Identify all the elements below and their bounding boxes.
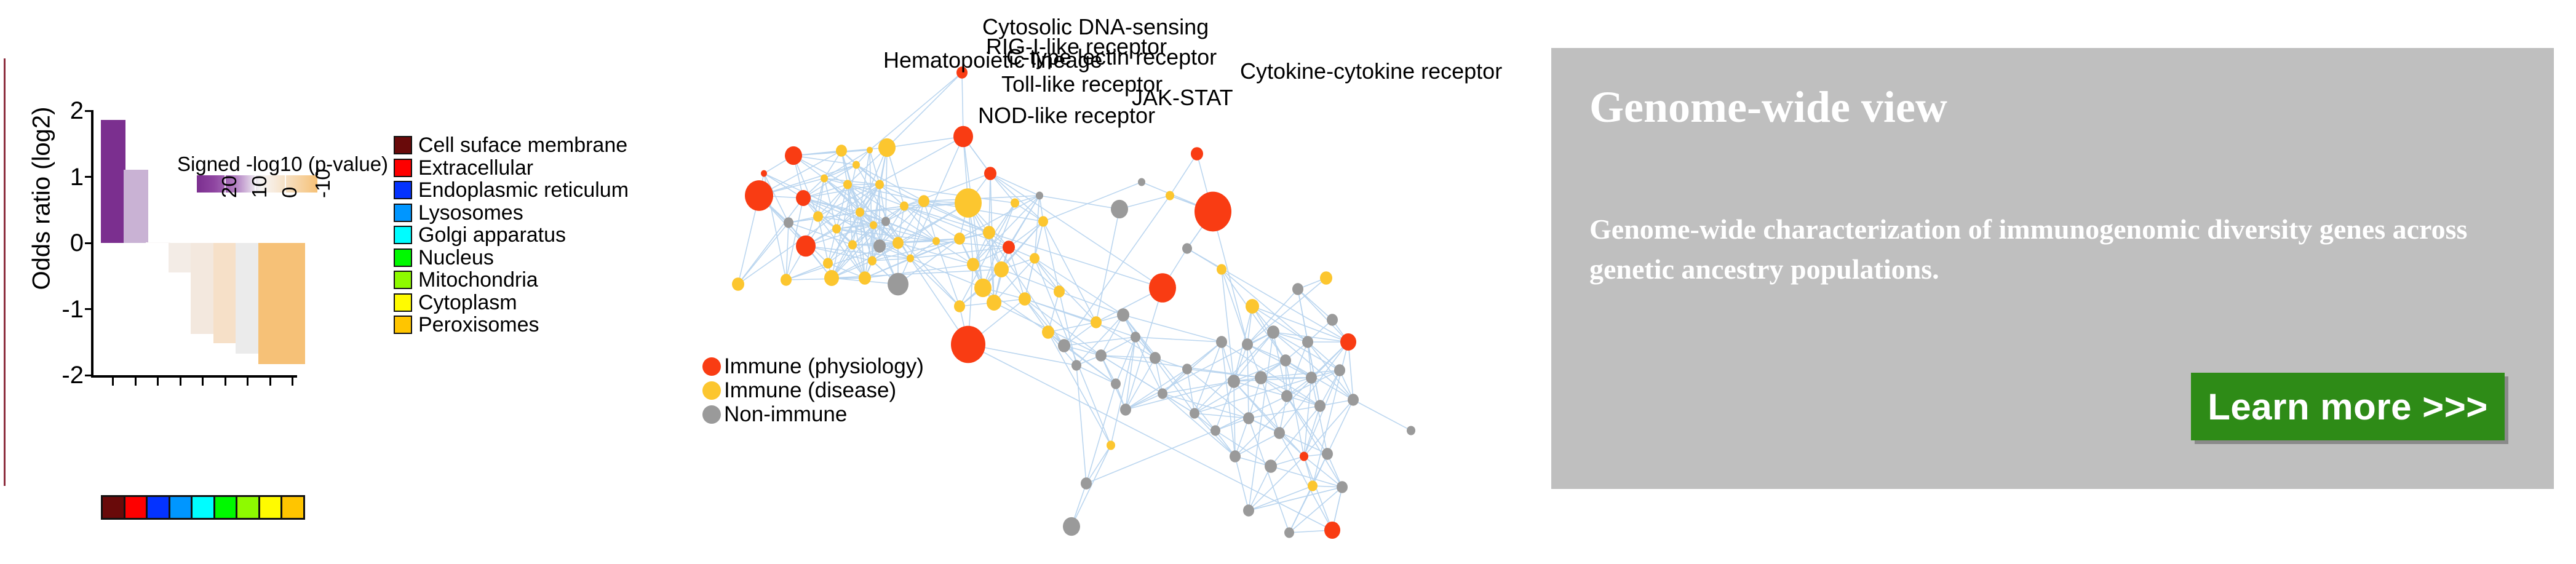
bar [236,243,260,354]
colorbar-tick-label: 0 [278,187,301,198]
network-node[interactable] [1340,333,1356,351]
network-node[interactable] [1314,400,1326,411]
bar [191,243,215,334]
network-legend: Immune (physiology)Immune (disease)Non-i… [702,354,924,426]
network-node[interactable] [907,255,914,263]
network-node[interactable] [823,258,833,268]
localization-color-swatch [394,181,412,199]
network-node[interactable] [932,237,940,245]
network-node[interactable] [984,167,996,180]
colorbar-title: Signed -log10 (p-value) [177,153,388,176]
network-node[interactable] [761,170,767,177]
network-node[interactable] [848,240,857,249]
network-node[interactable] [900,201,908,210]
network-label-cytokine-cytokine-receptor: Cytokine-cytokine receptor [1240,60,1502,82]
network-legend-label: Immune (physiology) [724,355,924,377]
localization-color-swatch [394,226,412,244]
network-node[interactable] [1255,371,1267,384]
localization-legend-label: Endoplasmic reticulum [418,180,629,201]
colorbar-tick-label: -10 [311,169,335,198]
network-node[interactable] [1217,264,1226,274]
y-tick-label: 1 [70,165,84,189]
bar [213,243,238,343]
localization-legend-item: Cytoplasm [394,292,629,314]
network-label-hematopoietic-lineage: Hematopoietic lineage [883,49,1102,71]
network-node[interactable] [1191,147,1203,161]
network-node[interactable] [1322,448,1333,459]
category-swatch [213,495,238,520]
localization-color-swatch [394,271,412,289]
network-node[interactable] [1182,363,1192,374]
learn-more-label: Learn more >>> [2208,386,2488,428]
category-swatch [191,495,215,520]
localization-legend-item: Extracellular [394,157,629,180]
network-node[interactable] [1131,332,1140,342]
network-node[interactable] [1348,394,1359,405]
promo-card: Genome-wide view Genome-wide characteriz… [1551,48,2554,489]
bar [280,243,305,364]
network-node[interactable] [1190,408,1199,418]
colorbar-tick-label: 10 [248,175,271,198]
y-tick [85,375,93,376]
y-tick-label: -2 [62,363,84,387]
localization-legend-item: Mitochondria [394,269,629,292]
localization-color-swatch [394,204,412,222]
localization-legend-label: Cell suface membrane [418,135,627,156]
network-node[interactable] [1407,426,1415,435]
network-node[interactable] [832,224,841,233]
network-node[interactable] [1210,425,1220,435]
network-node[interactable] [1280,354,1291,366]
y-axis-label: Odds ratio (log2) [28,70,56,328]
network-node[interactable] [856,207,864,216]
localization-legend-item: Nucleus [394,247,629,269]
network-node[interactable] [1228,375,1240,388]
network-label-nod-like-receptor: NOD-like receptor [978,105,1155,127]
localization-legend-label: Peroxisomes [418,314,539,335]
localization-legend-label: Cytoplasm [418,292,517,313]
bar [124,170,148,243]
network-node[interactable] [1243,412,1254,424]
y-tick-label: -1 [62,297,84,322]
network-node[interactable] [1265,459,1277,473]
x-axis-line [91,375,297,378]
network-node[interactable] [1149,273,1176,303]
network-node[interactable] [1158,388,1167,399]
network-node[interactable] [824,270,839,286]
network-node[interactable] [1166,191,1174,200]
network-node[interactable] [745,180,773,211]
network-node[interactable] [1267,325,1279,339]
network-node[interactable] [987,295,1001,311]
network-node[interactable] [1292,283,1303,295]
y-tick [85,176,93,178]
network-node[interactable] [821,175,828,183]
network-node[interactable] [1281,390,1292,402]
y-tick [85,308,93,310]
network-node[interactable] [954,232,965,244]
localization-color-swatch [394,159,412,177]
network-node[interactable] [843,180,852,189]
network-legend-dot [702,405,721,424]
network-node[interactable] [1138,178,1145,186]
network-node[interactable] [1327,314,1338,325]
x-tick [247,378,248,386]
network-node[interactable] [1054,285,1065,297]
network-node[interactable] [1019,292,1031,306]
network-node[interactable] [1071,360,1081,370]
network-panel: Cytosolic DNA-sensing RIG-I-like recepto… [695,0,1551,564]
network-node[interactable] [796,236,816,257]
localization-legend-item: Lysosomes [394,202,629,224]
network-node[interactable] [785,146,802,165]
x-tick [269,378,271,386]
network-node[interactable] [875,180,884,189]
x-tick [112,378,114,386]
category-swatch [280,495,305,520]
localization-color-swatch [394,293,412,312]
network-legend-label: Non-immune [724,403,847,425]
y-tick [85,242,93,244]
network-node[interactable] [881,216,890,226]
learn-more-button[interactable]: Learn more >>> [2191,373,2505,440]
network-node[interactable] [1030,253,1040,263]
network-legend-item: Immune (physiology) [702,354,924,378]
x-tick [135,378,137,386]
network-node[interactable] [784,217,793,228]
network-node[interactable] [796,190,811,206]
localization-legend-item: Golgi apparatus [394,224,629,247]
network-node[interactable] [1063,517,1080,536]
localization-color-swatch [394,136,412,154]
promo-body: Genome-wide characterization of immunoge… [1589,209,2512,290]
network-node[interactable] [868,256,877,265]
figure-root: Odds ratio (log2) 210-1-2 Signed -log10 … [0,0,2576,564]
network-node[interactable] [1042,325,1054,339]
x-tick [157,378,159,386]
network-edges [738,73,1411,533]
category-swatch [169,495,193,520]
localization-legend: Cell suface membraneExtracellularEndopla… [394,134,629,336]
network-node[interactable] [983,226,995,239]
network-node[interactable] [1111,378,1121,389]
y-tick-label: 0 [70,231,84,255]
network-node[interactable] [918,195,929,207]
network-node[interactable] [870,221,877,229]
bar [146,242,170,244]
y-tick [85,110,93,112]
network-node[interactable] [1242,338,1253,350]
network-node[interactable] [1011,198,1019,207]
localization-legend-item: Peroxisomes [394,314,629,336]
network-node[interactable] [888,273,908,296]
network-legend-dot [702,357,721,376]
network-node[interactable] [1091,316,1102,328]
localization-legend-label: Mitochondria [418,269,538,290]
network-node[interactable] [1230,450,1241,462]
network-node[interactable] [1120,403,1131,415]
network-node[interactable] [1308,480,1318,491]
network-node[interactable] [1107,440,1115,450]
network-node[interactable] [1095,349,1107,361]
bar [258,243,283,364]
x-tick [225,378,226,386]
bar-chart-plot-area: 210-1-2 [91,111,297,375]
bar-chart-panel: Odds ratio (log2) 210-1-2 Signed -log10 … [0,0,695,564]
network-legend-item: Immune (disease) [702,378,924,402]
network-node[interactable] [878,138,896,157]
x-tick [202,378,204,386]
network-node[interactable] [853,161,860,169]
network-node[interactable] [1246,299,1259,314]
network-node[interactable] [1300,451,1308,461]
localization-legend-label: Golgi apparatus [418,224,566,245]
network-node[interactable] [813,211,823,221]
network-node[interactable] [955,188,982,218]
localization-legend-item: Cell suface membrane [394,134,629,157]
network-node[interactable] [1195,192,1231,232]
localization-legend-label: Lysosomes [418,202,523,223]
network-node[interactable] [974,279,992,297]
network-node[interactable] [873,239,886,253]
network-node[interactable] [1058,339,1070,352]
category-swatch [258,495,283,520]
network-node[interactable] [1334,364,1345,376]
network-node[interactable] [859,271,871,285]
category-swatch [101,495,125,520]
localization-legend-item: Endoplasmic reticulum [394,179,629,202]
localization-legend-label: Nucleus [418,247,494,268]
promo-title: Genome-wide view [1589,85,1947,129]
category-swatch [146,495,170,520]
network-node[interactable] [1150,352,1161,363]
network-node[interactable] [1081,477,1092,489]
bar [101,120,125,243]
network-node[interactable] [1306,371,1317,383]
localization-legend-label: Extracellular [418,157,533,178]
network-node[interactable] [1216,336,1227,348]
network-node[interactable] [1182,243,1192,253]
x-tick [292,378,293,386]
network-node[interactable] [951,326,985,363]
network-legend-item: Non-immune [702,402,924,426]
network-node[interactable] [994,261,1009,277]
network-node[interactable] [1036,192,1043,200]
network-node[interactable] [967,258,979,271]
network-node[interactable] [1302,336,1313,348]
network-node[interactable] [781,274,792,285]
category-swatch [124,495,148,520]
network-node[interactable] [836,145,847,156]
network-legend-label: Immune (disease) [724,379,896,401]
category-swatch [236,495,260,520]
colorbar-tick-label: 20 [218,175,241,198]
network-node[interactable] [1111,200,1128,218]
network-node[interactable] [1320,271,1332,285]
bar [169,243,193,272]
y-tick-label: 2 [70,98,84,123]
network-node[interactable] [1337,481,1348,493]
network-node[interactable] [867,147,873,154]
network-node[interactable] [953,126,973,148]
network-node[interactable] [1324,522,1340,539]
localization-color-swatch [394,316,412,334]
network-node[interactable] [954,300,965,312]
network-node[interactable] [1284,527,1294,538]
x-tick [180,378,181,386]
network-legend-dot [702,381,721,400]
network-node[interactable] [1274,427,1285,439]
network-node[interactable] [1038,216,1048,226]
network-node[interactable] [1003,240,1015,254]
network-node[interactable] [892,237,904,248]
network-node[interactable] [1117,308,1129,322]
network-node[interactable] [732,277,744,291]
network-node[interactable] [1243,504,1254,516]
localization-color-swatch [394,248,412,267]
